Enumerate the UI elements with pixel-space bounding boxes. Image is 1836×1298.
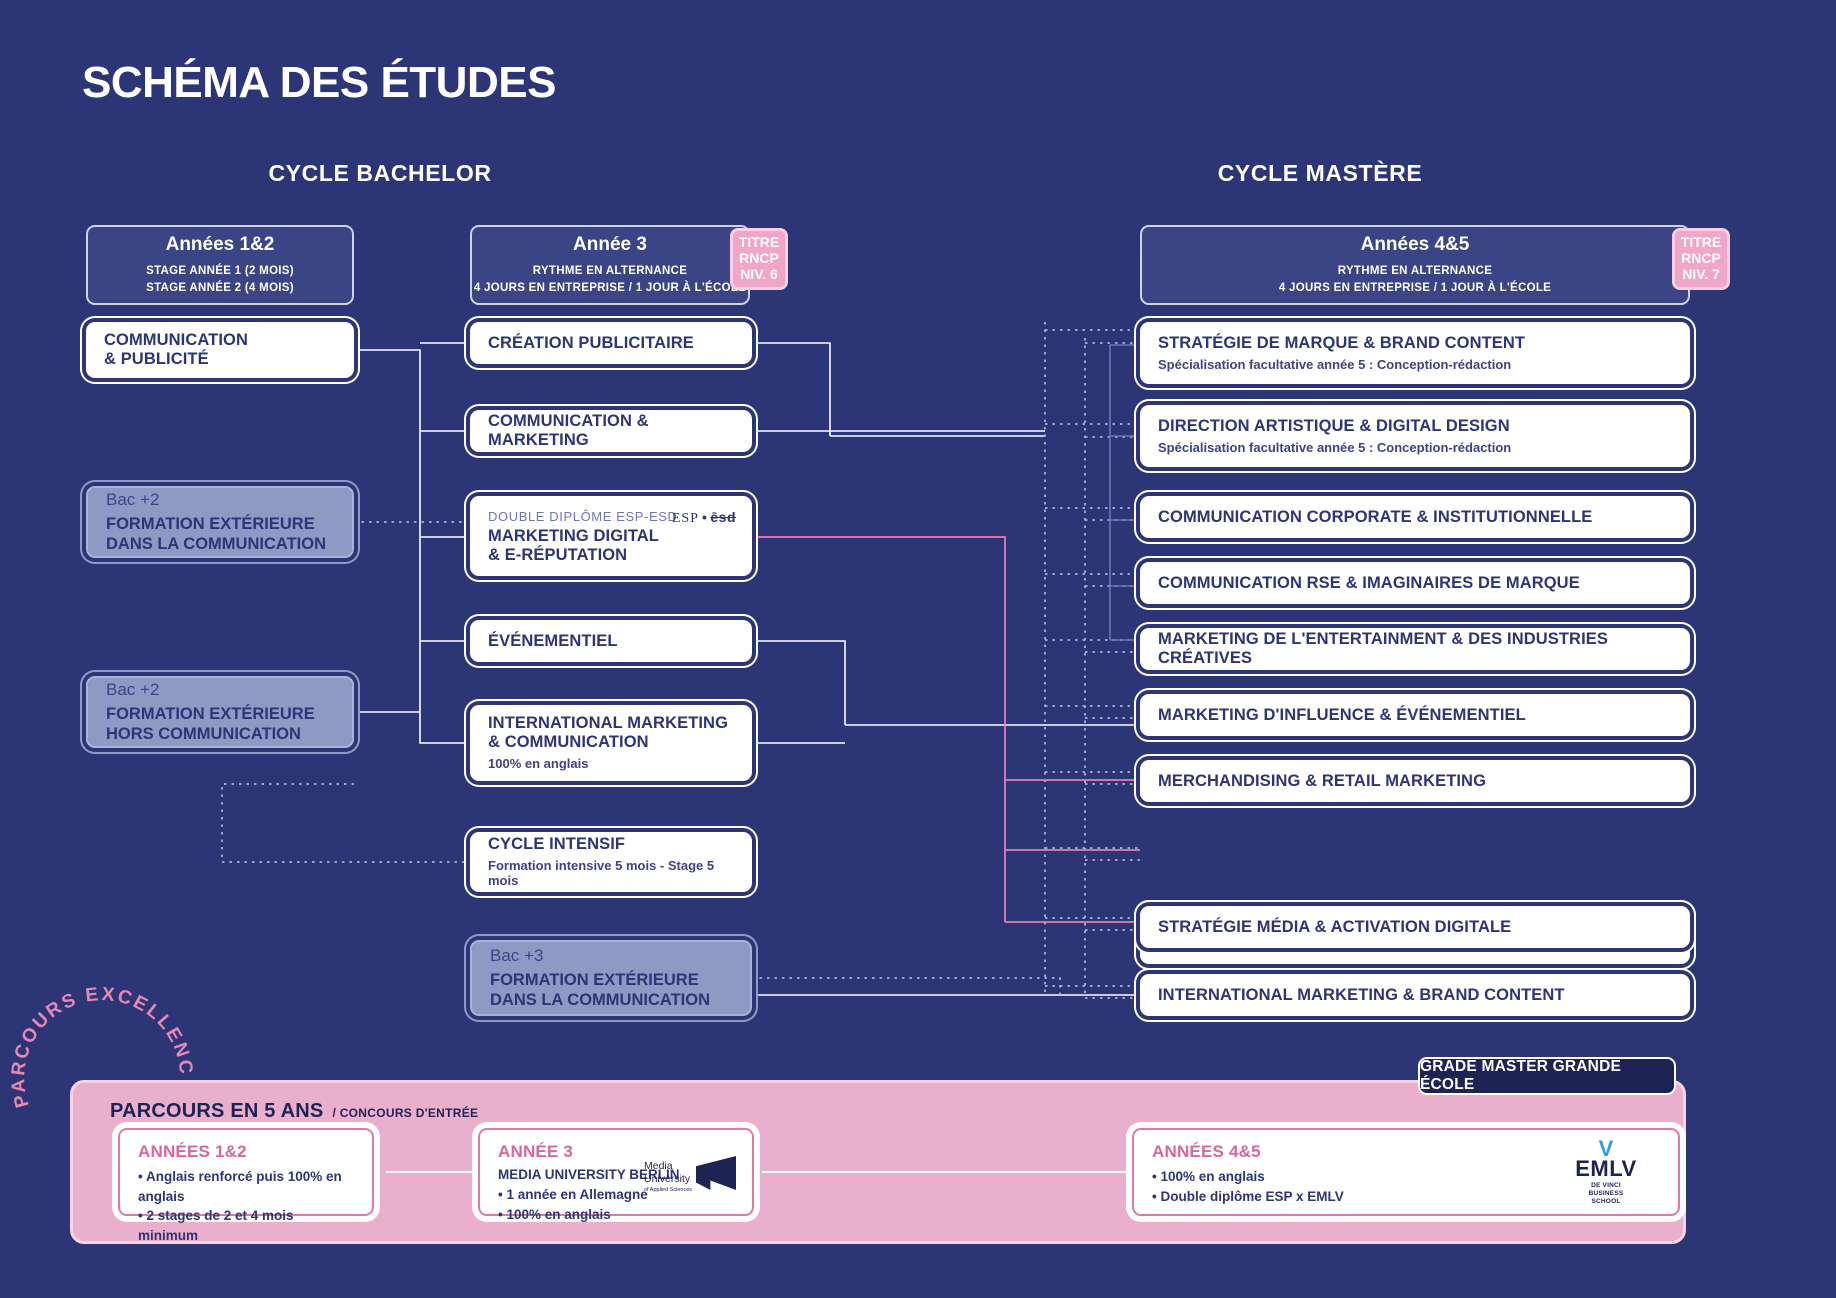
- master-0-sub: Spécialisation facultative année 5 : Con…: [1158, 357, 1672, 373]
- media-university-wordmark: Media University of Applied Sciences: [644, 1160, 692, 1194]
- entry-bac3-pre: Bac +3: [490, 946, 732, 966]
- esp-esd-logo: ESP•ēsd: [672, 509, 736, 527]
- emlv-tag-1: DE VINCI: [1591, 1182, 1621, 1189]
- master-international-marketing-brand-content[interactable]: INTERNATIONAL MARKETING & BRAND CONTENT: [1140, 974, 1690, 1016]
- bachelor-marketing-digital-ereputation[interactable]: DOUBLE DIPLÔME ESP-ESD ESP•ēsd MARKETING…: [470, 496, 752, 576]
- entry-communication-publicite[interactable]: COMMUNICATION & PUBLICITÉ: [86, 322, 354, 378]
- media-university-line2: University: [644, 1173, 690, 1185]
- entry-bac2-com-line2: DANS LA COMMUNICATION: [106, 534, 334, 554]
- rncp-niveau-6-badge: TITRE RNCP NIV. 6: [730, 228, 788, 290]
- cycle-bachelor-title: CYCLE BACHELOR: [240, 160, 520, 187]
- parcours-card-0-item-2: • Summer session à l'étranger: [138, 1245, 354, 1265]
- master-marketing-influence-evenementiel[interactable]: MARKETING D'INFLUENCE & ÉVÉNEMENTIEL: [1140, 694, 1690, 736]
- parcours-heading-main: PARCOURS EN 5 ANS: [110, 1100, 323, 1123]
- master-6-label: MERCHANDISING & RETAIL MARKETING: [1158, 772, 1672, 791]
- master-2-label: COMMUNICATION CORPORATE & INSTITUTIONNEL…: [1158, 508, 1672, 527]
- rncp-6-line1: TITRE: [739, 235, 779, 251]
- parcours-card-annee-3[interactable]: ANNÉE 3 MEDIA UNIVERSITY BERLIN • 1 anné…: [478, 1128, 754, 1216]
- bachelor-cycle-intensif-label: CYCLE INTENSIF: [488, 835, 734, 854]
- entry-com-pub-line2: & PUBLICITÉ: [104, 350, 336, 369]
- entry-bac2-com-line1: FORMATION EXTÉRIEURE: [106, 514, 334, 534]
- master-4-label: MARKETING DE L'ENTERTAINMENT & DES INDUS…: [1158, 630, 1672, 668]
- rncp-6-line3: NIV. 6: [740, 267, 778, 283]
- parcours-5-ans-heading: PARCOURS EN 5 ANS / CONCOURS D'ENTRÉE: [110, 1100, 478, 1123]
- rncp-7-line3: NIV. 7: [1682, 267, 1720, 283]
- master-strategie-de-marque-brand-content[interactable]: STRATÉGIE DE MARQUE & BRAND CONTENT Spéc…: [1140, 322, 1690, 384]
- year-3-line1: RYTHME EN ALTERNANCE: [474, 263, 746, 280]
- emlv-tag-3: SCHOOL: [1591, 1198, 1620, 1205]
- rncp-7-line1: TITRE: [1681, 235, 1721, 251]
- entry-bac2-dans-communication[interactable]: Bac +2 FORMATION EXTÉRIEURE DANS LA COMM…: [86, 486, 354, 558]
- bachelor-double-diplome-line1: MARKETING DIGITAL: [488, 527, 734, 546]
- parcours-card-annees-4-5[interactable]: ANNÉES 4&5 • 100% en anglais • Double di…: [1132, 1128, 1680, 1216]
- entry-bac2-hors-line1: FORMATION EXTÉRIEURE: [106, 704, 334, 724]
- entry-bac2-hors-pre: Bac +2: [106, 680, 334, 700]
- parcours-card-0-item-1: • 2 stages de 2 et 4 mois minimum: [138, 1206, 354, 1245]
- year-3-line2: 4 JOURS EN ENTREPRISE / 1 JOUR À L'ÉCOLE: [474, 280, 746, 297]
- year-3-header-box: Année 3 RYTHME EN ALTERNANCE 4 JOURS EN …: [470, 225, 750, 305]
- bachelor-evenementiel[interactable]: ÉVÉNEMENTIEL: [470, 620, 752, 662]
- entry-bac3-line2: DANS LA COMMUNICATION: [490, 990, 732, 1010]
- bachelor-intl-marketing-sub: 100% en anglais: [488, 756, 734, 772]
- year-3-title: Année 3: [573, 234, 647, 256]
- media-university-line3: of Applied Sciences: [644, 1187, 692, 1194]
- bachelor-communication-marketing-label: COMMUNICATION & MARKETING: [488, 412, 734, 450]
- master-5-label: MARKETING D'INFLUENCE & ÉVÉNEMENTIEL: [1158, 706, 1672, 725]
- rncp-6-line2: RNCP: [739, 251, 779, 267]
- emlv-mark: V: [1560, 1140, 1652, 1158]
- bachelor-intl-marketing-line2: & COMMUNICATION: [488, 733, 734, 752]
- esp-esd-logo-dot: •: [702, 509, 707, 525]
- master-9-label: INTERNATIONAL MARKETING & BRAND CONTENT: [1158, 986, 1672, 1005]
- bachelor-evenementiel-label: ÉVÉNEMENTIEL: [488, 632, 734, 651]
- parcours-card-annees-1-2[interactable]: ANNÉES 1&2 • Anglais renforcé puis 100% …: [118, 1128, 374, 1216]
- esp-esd-logo-right: ēsd: [710, 509, 736, 525]
- master-direction-artistique-digital-design[interactable]: DIRECTION ARTISTIQUE & DIGITAL DESIGN Sp…: [1140, 405, 1690, 467]
- years-1-2-line2: STAGE ANNÉE 2 (4 MOIS): [146, 280, 294, 297]
- master-0-label: STRATÉGIE DE MARQUE & BRAND CONTENT: [1158, 334, 1672, 353]
- parcours-heading-sub: / CONCOURS D'ENTRÉE: [332, 1106, 478, 1120]
- emlv-tagline: DE VINCI BUSINESS SCHOOL: [1560, 1182, 1652, 1206]
- page-title: SCHÉMA DES ÉTUDES: [82, 58, 556, 108]
- master-3-label: COMMUNICATION RSE & IMAGINAIRES DE MARQU…: [1158, 574, 1672, 593]
- rncp-niveau-7-badge: TITRE RNCP NIV. 7: [1672, 228, 1730, 290]
- master-strategie-media-activation-digitale[interactable]: STRATÉGIE MÉDIA & ACTIVATION DIGITALE: [1140, 906, 1690, 948]
- media-university-mark: [696, 1156, 736, 1190]
- years-1-2-line1: STAGE ANNÉE 1 (2 MOIS): [146, 263, 294, 280]
- bachelor-international-marketing-communication[interactable]: INTERNATIONAL MARKETING & COMMUNICATION …: [470, 705, 752, 781]
- bachelor-creation-publicitaire-label: CRÉATION PUBLICITAIRE: [488, 334, 734, 353]
- emlv-wordmark: EMLV: [1560, 1158, 1652, 1180]
- master-communication-rse-imaginaires-de-marque[interactable]: COMMUNICATION RSE & IMAGINAIRES DE MARQU…: [1140, 562, 1690, 604]
- media-university-logo: Media University of Applied Sciences: [644, 1156, 738, 1208]
- years-1-2-title: Années 1&2: [166, 234, 275, 256]
- cycle-mastere-title: CYCLE MASTÈRE: [1180, 160, 1460, 187]
- years-4-5-title: Années 4&5: [1361, 234, 1470, 256]
- master-communication-corporate-institutionnelle[interactable]: COMMUNICATION CORPORATE & INSTITUTIONNEL…: [1140, 496, 1690, 538]
- bachelor-communication-marketing[interactable]: COMMUNICATION & MARKETING: [470, 410, 752, 452]
- master-1-label: DIRECTION ARTISTIQUE & DIGITAL DESIGN: [1158, 417, 1672, 436]
- parcours-card-0-item-0: • Anglais renforcé puis 100% en anglais: [138, 1167, 354, 1206]
- bachelor-cycle-intensif[interactable]: CYCLE INTENSIF Formation intensive 5 moi…: [470, 832, 752, 892]
- master-1-sub: Spécialisation facultative année 5 : Con…: [1158, 440, 1672, 456]
- parcours-card-0-title: ANNÉES 1&2: [138, 1142, 354, 1162]
- esp-esd-logo-left: ESP: [672, 511, 699, 526]
- master-8-label: STRATÉGIE MÉDIA & ACTIVATION DIGITALE: [1158, 918, 1672, 937]
- entry-bac3-line1: FORMATION EXTÉRIEURE: [490, 970, 732, 990]
- entry-com-pub-line1: COMMUNICATION: [104, 331, 336, 350]
- bachelor-cycle-intensif-sub: Formation intensive 5 mois - Stage 5 moi…: [488, 858, 734, 889]
- bachelor-double-diplome-line2: & E-RÉPUTATION: [488, 546, 734, 565]
- entry-bac2-hors-line2: HORS COMMUNICATION: [106, 724, 334, 744]
- diagram-canvas: SCHÉMA DES ÉTUDES CYCLE BACHELOR CYCLE M…: [0, 0, 1836, 1298]
- emlv-tag-2: BUSINESS: [1589, 1190, 1624, 1197]
- emlv-logo: V EMLV DE VINCI BUSINESS SCHOOL: [1560, 1140, 1652, 1210]
- entry-bac2-hors-communication[interactable]: Bac +2 FORMATION EXTÉRIEURE HORS COMMUNI…: [86, 676, 354, 748]
- media-university-line1: Media: [644, 1160, 673, 1172]
- years-1-2-header-box: Années 1&2 STAGE ANNÉE 1 (2 MOIS) STAGE …: [86, 225, 354, 305]
- bachelor-creation-publicitaire[interactable]: CRÉATION PUBLICITAIRE: [470, 322, 752, 364]
- master-marketing-entertainment-industries-creatives[interactable]: MARKETING DE L'ENTERTAINMENT & DES INDUS…: [1140, 628, 1690, 670]
- master-merchandising-retail-marketing[interactable]: MERCHANDISING & RETAIL MARKETING: [1140, 760, 1690, 802]
- grade-master-grande-ecole-badge: GRADE MASTER GRANDE ÉCOLE: [1418, 1057, 1676, 1095]
- rncp-7-line2: RNCP: [1681, 251, 1721, 267]
- years-4-5-line2: 4 JOURS EN ENTREPRISE / 1 JOUR À L'ÉCOLE: [1279, 280, 1551, 297]
- entry-bac3-dans-communication[interactable]: Bac +3 FORMATION EXTÉRIEURE DANS LA COMM…: [470, 940, 752, 1016]
- entry-bac2-com-pre: Bac +2: [106, 490, 334, 510]
- bachelor-intl-marketing-line1: INTERNATIONAL MARKETING: [488, 714, 734, 733]
- years-4-5-line1: RYTHME EN ALTERNANCE: [1279, 263, 1551, 280]
- years-4-5-header-box: Années 4&5 RYTHME EN ALTERNANCE 4 JOURS …: [1140, 225, 1690, 305]
